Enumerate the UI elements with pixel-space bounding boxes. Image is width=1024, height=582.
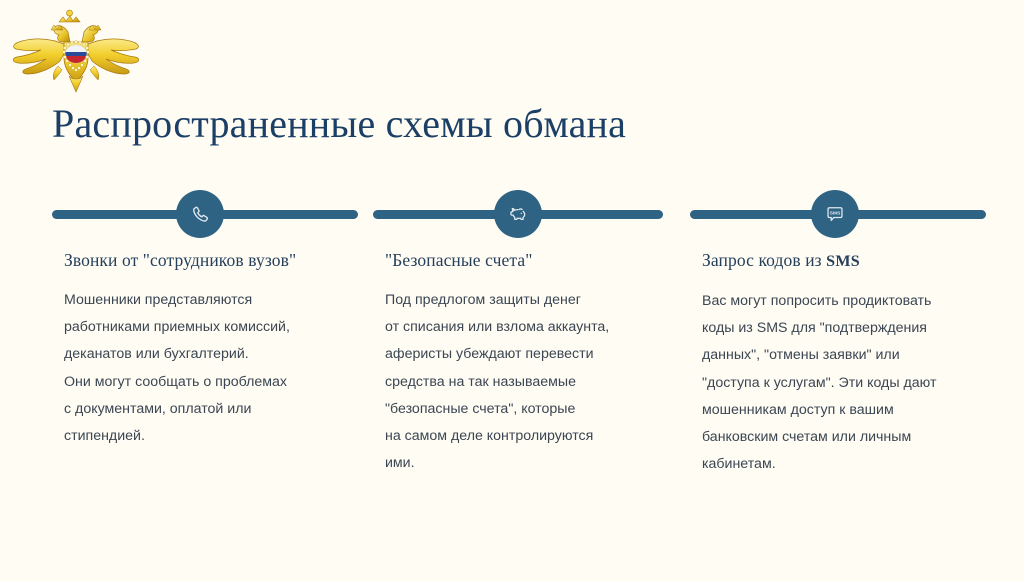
phone-icon [189, 203, 211, 225]
timeline-node-1[interactable] [176, 190, 224, 238]
timeline-segment-1 [52, 188, 358, 240]
scheme-heading-2: "Безопасные счета" [385, 248, 685, 273]
scheme-column-2: "Безопасные счета" Под предлогом защиты … [385, 248, 685, 478]
scheme-heading-3-prefix: Запрос кодов из [702, 250, 826, 270]
scheme-body-2: Под предлогом защиты денег от списания и… [385, 287, 685, 478]
timeline-segment-2 [373, 188, 663, 240]
timeline: SMS [0, 188, 1024, 240]
scheme-heading-3: Запрос кодов из SMS [702, 248, 1002, 274]
timeline-segment-3: SMS [690, 188, 986, 240]
scheme-column-1: Звонки от "сотрудников вузов" Мошенники … [64, 248, 364, 450]
timeline-node-2[interactable] [494, 190, 542, 238]
page-title: Распространенные схемы обмана [52, 100, 626, 147]
scheme-body-3: Вас могут попросить продиктовать коды из… [702, 288, 1002, 479]
scheme-heading-1: Звонки от "сотрудников вузов" [64, 248, 364, 273]
timeline-node-3[interactable]: SMS [811, 190, 859, 238]
mvd-eagle-emblem [8, 6, 144, 96]
piggy-bank-icon [507, 203, 529, 225]
scheme-column-3: Запрос кодов из SMS Вас могут попросить … [702, 248, 1002, 479]
scheme-heading-3-sms: SMS [826, 253, 860, 270]
svg-text:SMS: SMS [830, 210, 841, 216]
sms-bubble-icon: SMS [824, 203, 846, 225]
scheme-body-1: Мошенники представляются работниками при… [64, 287, 364, 451]
